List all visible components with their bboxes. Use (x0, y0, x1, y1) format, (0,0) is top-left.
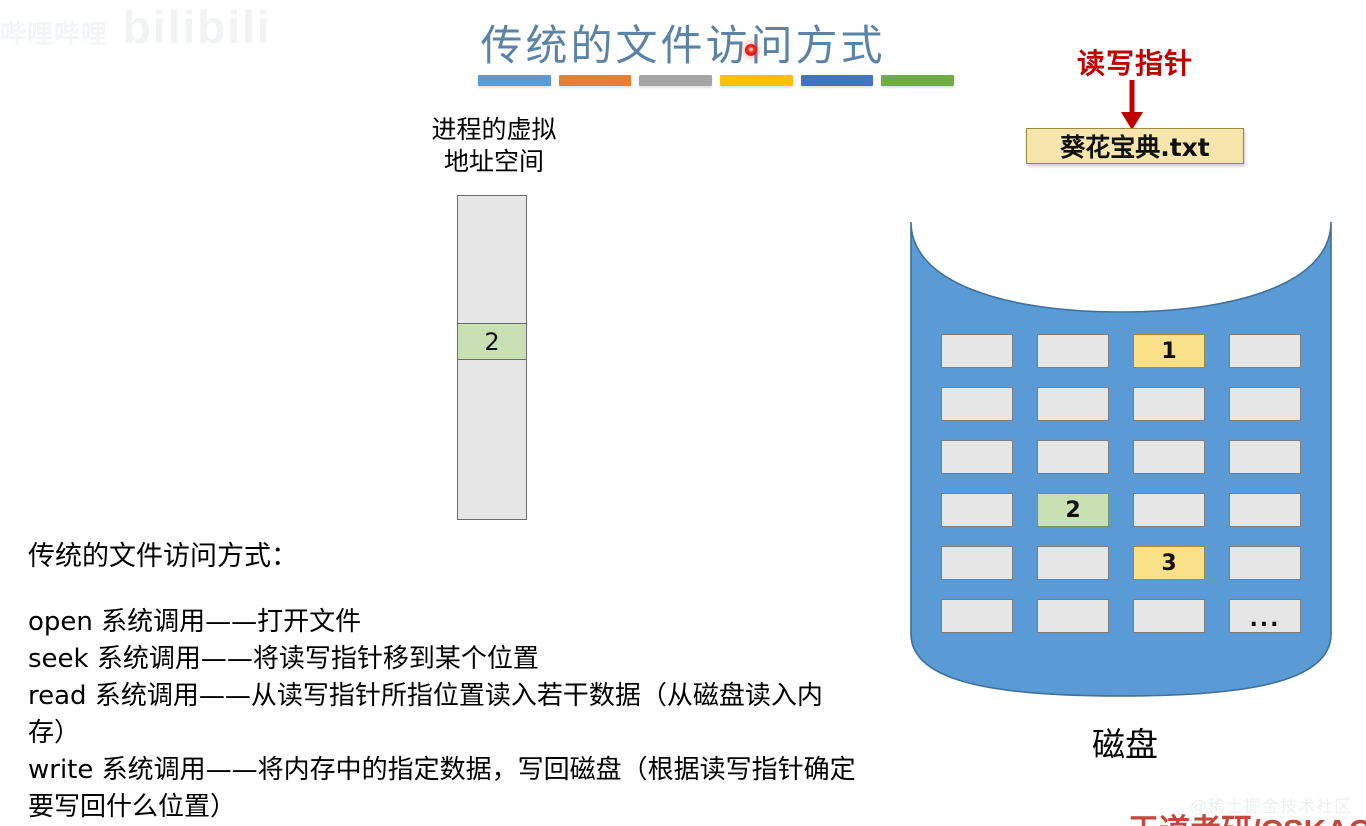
rule-bar-4 (720, 75, 793, 86)
wangdao-watermark: 王道考研/CSKAOYA (1128, 805, 1366, 826)
disk-block (1229, 387, 1301, 421)
disk-block: 2 (1037, 493, 1109, 527)
disk-block-grid: 123... (941, 334, 1307, 633)
file-name-box: 葵花宝典.txt (1026, 128, 1244, 164)
disk-block (941, 440, 1013, 474)
virtual-address-space-label: 进程的虚拟 地址空间 (396, 114, 592, 178)
disk-block (1133, 440, 1205, 474)
disk-block: 1 (1133, 334, 1205, 368)
disk-block (941, 387, 1013, 421)
disk-block: 3 (1133, 546, 1205, 580)
disk-block (1037, 387, 1109, 421)
rule-bar-2 (559, 75, 632, 86)
vas-cell-upper (457, 195, 527, 323)
disk-block (1229, 546, 1301, 580)
disk-block (1037, 440, 1109, 474)
disk-block (1037, 334, 1109, 368)
disk-block (941, 599, 1013, 633)
disk-block (1037, 599, 1109, 633)
rule-bar-6 (881, 75, 954, 86)
disk-block (1133, 599, 1205, 633)
syscall-item-write: write 系统调用——将内存中的指定数据，写回磁盘（根据读写指针确定要写回什么… (28, 752, 858, 826)
disk-block (1037, 546, 1109, 580)
disk-block (1229, 440, 1301, 474)
disk-block (1133, 387, 1205, 421)
read-write-pointer-label: 读写指针 (1030, 42, 1240, 82)
read-write-pointer-arrow-icon (1112, 80, 1152, 130)
vas-cell-lower (457, 360, 527, 520)
syscall-item-open: open 系统调用——打开文件 (28, 604, 858, 641)
disk-block: ... (1229, 599, 1301, 633)
title-underline-rules (478, 75, 954, 86)
disk-block (941, 334, 1013, 368)
rule-bar-5 (801, 75, 874, 86)
disk-block (1229, 493, 1301, 527)
vas-cell-loaded: 2 (457, 323, 527, 360)
virtual-address-space-label-line2: 地址空间 (396, 146, 592, 178)
laser-pointer-dot (745, 44, 757, 56)
rule-bar-1 (478, 75, 551, 86)
slide-canvas: 哔哩哔哩 bilibili @稀土掘金技术社区 王道考研/CSKAOYA 传统的… (0, 0, 1366, 826)
syscall-item-read: read 系统调用——从读写指针所指位置读入若干数据（从磁盘读入内存） (28, 678, 858, 752)
syscall-list: open 系统调用——打开文件 seek 系统调用——将读写指针移到某个位置 r… (28, 604, 858, 826)
disk-block (1133, 493, 1205, 527)
virtual-address-space-label-line1: 进程的虚拟 (396, 114, 592, 146)
disk-block (1229, 334, 1301, 368)
disk-block (941, 546, 1013, 580)
virtual-address-space-column: 2 (457, 195, 527, 520)
syscall-item-seek: seek 系统调用——将读写指针移到某个位置 (28, 641, 858, 678)
body-heading: 传统的文件访问方式： (28, 534, 298, 573)
disk-caption: 磁盘 (1040, 718, 1210, 766)
disk-illustration: 123... (893, 204, 1348, 704)
rule-bar-3 (639, 75, 712, 86)
disk-block (941, 493, 1013, 527)
